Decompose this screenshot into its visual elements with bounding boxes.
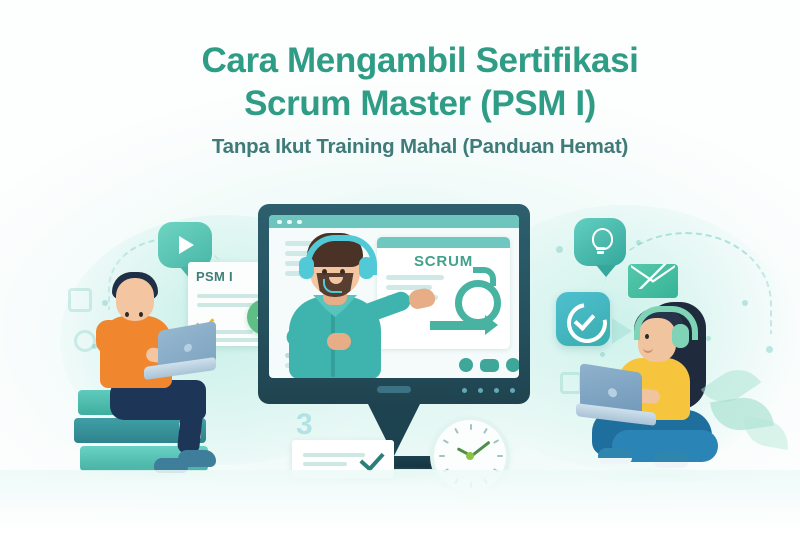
scrum-sprint-loop-icon (451, 267, 499, 315)
shoe (654, 452, 688, 468)
lightbulb-base (596, 247, 605, 250)
play-triangle-icon (179, 236, 194, 254)
card-text-line (303, 453, 365, 457)
headphone-cup (359, 257, 374, 279)
eye (125, 312, 129, 317)
shoe (598, 448, 632, 464)
character-man-with-laptop (84, 262, 229, 487)
envelope-flap (631, 265, 675, 289)
check-icon (359, 446, 384, 472)
presenter-figure (283, 229, 387, 374)
faint-square-icon (560, 372, 582, 394)
slide-text-line (386, 275, 444, 280)
monitor-screen: SCRUM (269, 215, 519, 378)
player-button-more[interactable] (506, 358, 519, 372)
decor-dot (636, 240, 641, 245)
hand-left (327, 333, 351, 350)
decor-dot (742, 300, 748, 306)
headline-line-1: Cara Mengambil Sertifikasi (150, 40, 690, 83)
headline-block: Cara Mengambil Sertifikasi Scrum Master … (150, 40, 690, 159)
player-button-add[interactable] (459, 358, 473, 372)
head (116, 278, 154, 321)
number-glyph: 3 (296, 408, 313, 442)
headline-line-2: Scrum Master (PSM I) (150, 83, 690, 126)
decor-dot (556, 246, 563, 253)
eye (139, 312, 143, 317)
subheadline: Tanpa Ikut Training Mahal (Panduan Hemat… (150, 135, 690, 159)
floor-gradient (0, 470, 800, 533)
card-text-line (303, 462, 347, 466)
monitor-bezel: SCRUM (258, 204, 530, 404)
leaf-decoration (740, 416, 792, 450)
monitor-chin (258, 378, 530, 404)
headphone-cup (672, 324, 689, 348)
slide-header-bar (377, 237, 510, 248)
shoe (178, 450, 216, 467)
poster-canvas: ? 3 Cara Mengambil Sertifikasi Scrum Mas… (0, 0, 800, 533)
video-app-titlebar (269, 215, 519, 228)
lightbulb-base2 (597, 251, 604, 254)
clock-center-pin (466, 452, 474, 460)
desktop-monitor: SCRUM (258, 204, 530, 404)
decor-dot (766, 346, 773, 353)
scrum-arrow-icon (430, 321, 486, 330)
envelope-icon (628, 264, 678, 298)
headphone-cup (299, 257, 314, 279)
player-button-video[interactable] (480, 359, 499, 372)
lightbulb-bubble-icon (574, 218, 626, 266)
